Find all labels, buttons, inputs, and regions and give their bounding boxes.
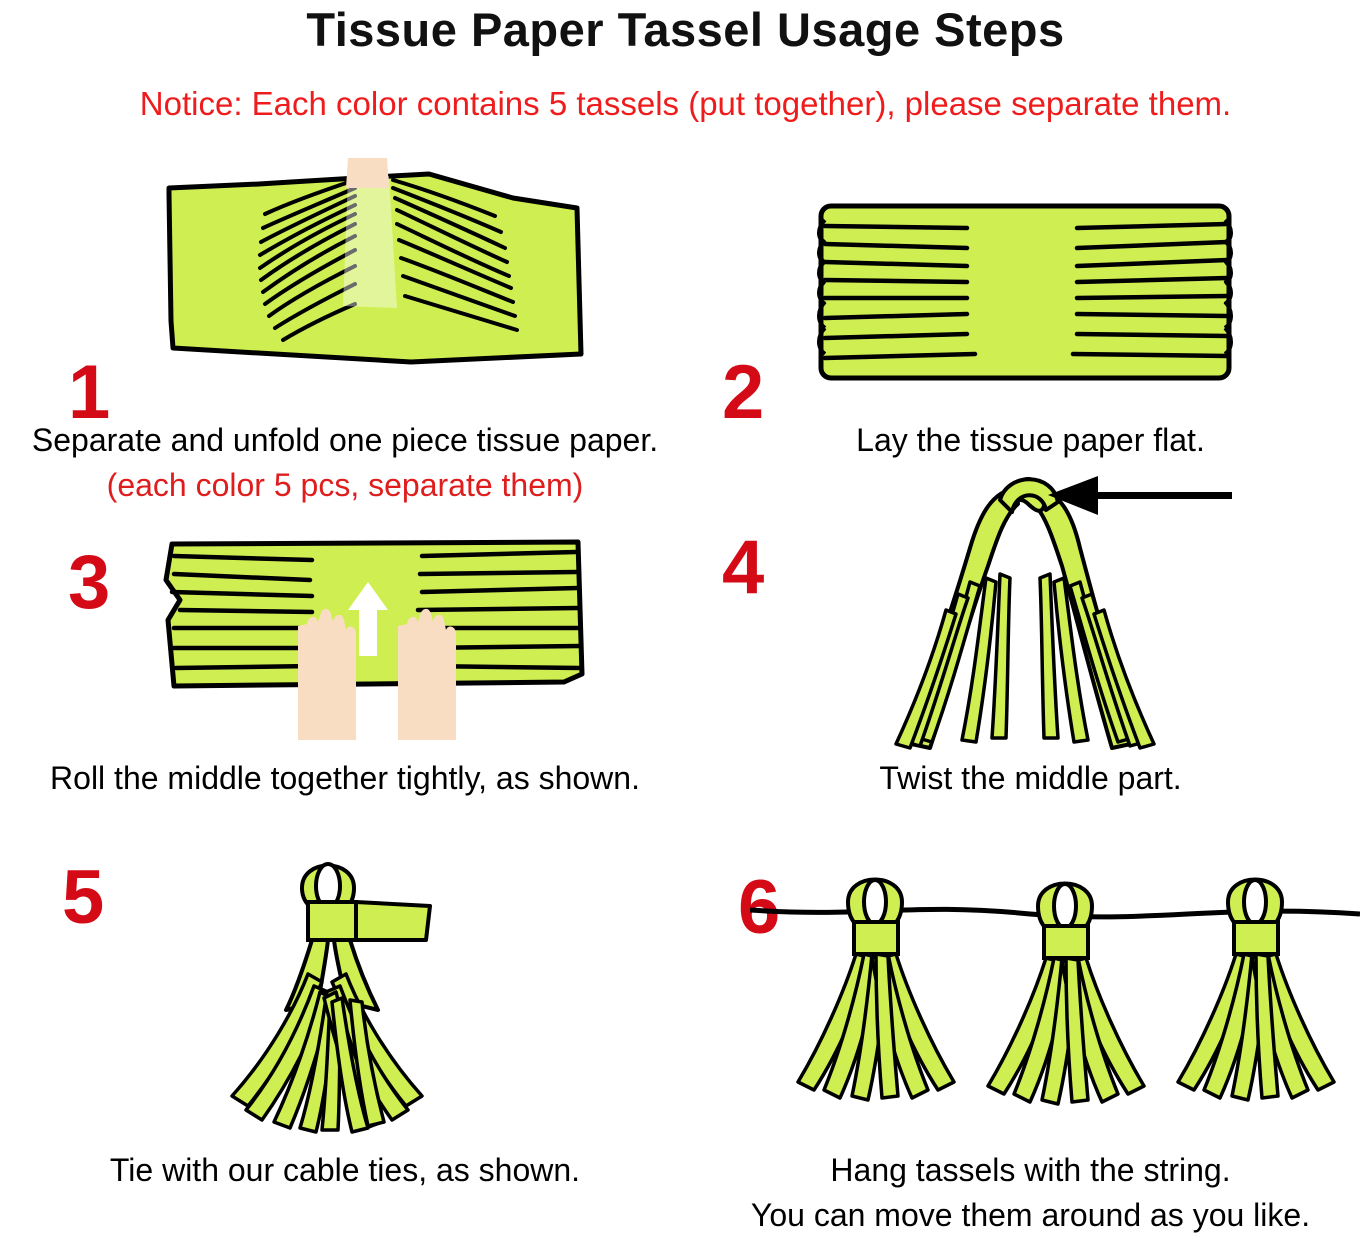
step-5-illustration — [190, 840, 530, 1140]
pointer-arrow-icon — [1048, 476, 1232, 515]
tassels-on-string-icon — [750, 862, 1360, 1132]
step-1-illustration — [165, 158, 585, 408]
step-6-caption-second: You can move them around as you like. — [690, 1197, 1371, 1234]
right-hand-icon — [398, 609, 456, 740]
step-4: 4 — [690, 460, 1371, 850]
step-1: 1 — [0, 150, 690, 520]
step-number-3: 3 — [68, 545, 110, 621]
step-6: 6 — [690, 840, 1371, 1254]
step-2-caption: Lay the tissue paper flat. — [690, 422, 1371, 459]
step-1-caption-sub: (each color 5 pcs, separate them) — [0, 467, 690, 504]
step-5-caption: Tie with our cable ties, as shown. — [0, 1152, 690, 1189]
notice-text: Notice: Each color contains 5 tassels (p… — [0, 85, 1371, 123]
flat-tissue-stack-icon — [815, 198, 1235, 388]
rolling-middle-icon — [160, 530, 590, 760]
tied-tassel-icon — [190, 840, 530, 1140]
step-3: 3 — [0, 520, 690, 850]
step-5: 5 — [0, 840, 690, 1254]
step-3-illustration — [160, 530, 590, 760]
step-number-4: 4 — [722, 530, 764, 606]
step-2-illustration — [815, 198, 1235, 388]
unfolded-tissue-paper-icon — [165, 158, 585, 408]
step-1-caption: Separate and unfold one piece tissue pap… — [0, 422, 690, 459]
step-number-2: 2 — [722, 355, 764, 431]
step-4-caption: Twist the middle part. — [690, 760, 1371, 797]
left-hand-icon — [298, 609, 356, 740]
page-title: Tissue Paper Tassel Usage Steps — [0, 2, 1371, 57]
step-number-1: 1 — [68, 355, 110, 431]
twisted-tassel-icon — [840, 470, 1240, 760]
step-6-illustration — [750, 862, 1360, 1132]
step-3-caption: Roll the middle together tightly, as sho… — [0, 760, 690, 797]
step-number-5: 5 — [62, 860, 104, 936]
step-4-illustration — [840, 470, 1240, 760]
step-6-caption: Hang tassels with the string. — [690, 1152, 1371, 1189]
